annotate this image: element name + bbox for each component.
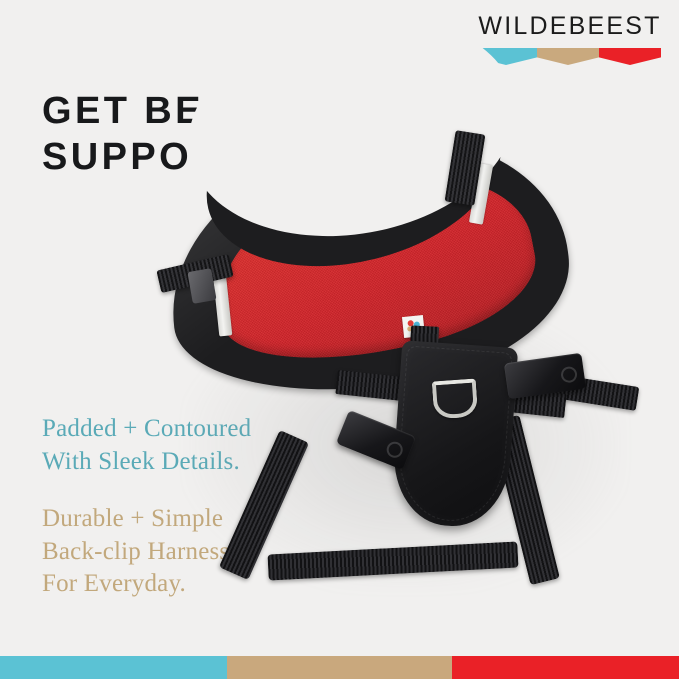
bottom-bar-red xyxy=(452,656,679,679)
brand-logo: WILDEBEEST xyxy=(475,14,665,65)
bottom-color-bar xyxy=(0,656,679,679)
banner-segment-red xyxy=(599,48,661,65)
product-marketing-image: WILDEBEEST GET BETTER FIT, SUPPORT + STY… xyxy=(0,0,679,679)
brand-banner-icon xyxy=(475,48,661,65)
brand-wordmark: WILDEBEEST xyxy=(475,14,665,39)
product-photo-harness xyxy=(150,130,670,620)
bottom-bar-tan xyxy=(227,656,452,679)
bottom-bar-teal xyxy=(0,656,227,679)
banner-segment-tan xyxy=(537,48,599,65)
